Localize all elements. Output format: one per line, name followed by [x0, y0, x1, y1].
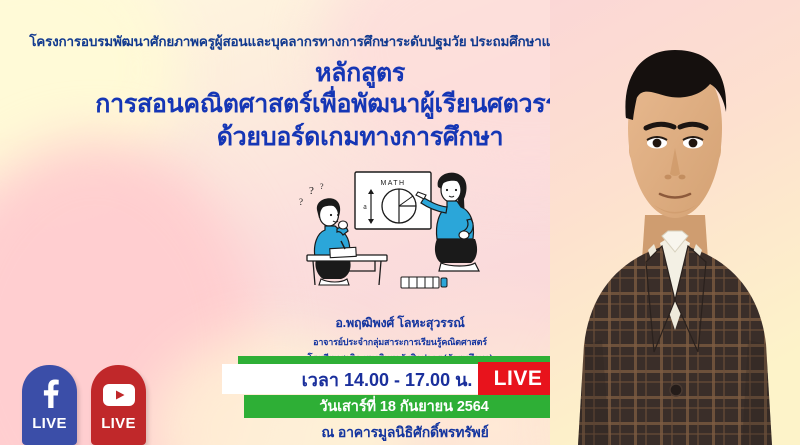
board-label: MATH	[381, 180, 406, 187]
facebook-live-label: LIVE	[32, 415, 67, 432]
svg-text:?: ?	[299, 197, 303, 207]
facebook-live-badge[interactable]: LIVE	[22, 365, 77, 445]
live-badge-label: LIVE	[494, 367, 543, 391]
youtube-icon	[102, 382, 136, 408]
youtube-live-label: LIVE	[101, 415, 136, 432]
poster-root: โครงการอบรมพัฒนาศักยภาพครูผู้สอนและบุคลา…	[0, 0, 800, 445]
board-axis-label: a	[363, 202, 367, 211]
live-badge: LIVE	[478, 362, 558, 395]
facebook-icon	[37, 378, 63, 408]
social-badges: LIVE LIVE	[22, 365, 146, 445]
svg-text:?: ?	[320, 182, 324, 191]
date-banner: วันเสาร์ที่ 18 กันยายน 2564	[244, 395, 564, 418]
speaker-portrait	[550, 0, 800, 445]
svg-text:?: ?	[309, 185, 314, 197]
date-text: วันเสาร์ที่ 18 กันยายน 2564	[319, 395, 488, 418]
speaker-name: อ.พฤฒิพงศ์ โลหะสุวรรณ์	[190, 313, 610, 333]
speaker-role: อาจารย์ประจำกลุ่มสาระการเรียนรู้คณิตศาสต…	[190, 335, 610, 349]
youtube-live-badge[interactable]: LIVE	[91, 365, 146, 445]
time-text: เวลา 14.00 - 17.00 น.	[302, 365, 473, 394]
venue-text: ณ อาคารมูลนิธิศักดิ์พรทรัพย์	[200, 422, 610, 444]
math-classroom-illustration: MATH a	[275, 163, 525, 293]
